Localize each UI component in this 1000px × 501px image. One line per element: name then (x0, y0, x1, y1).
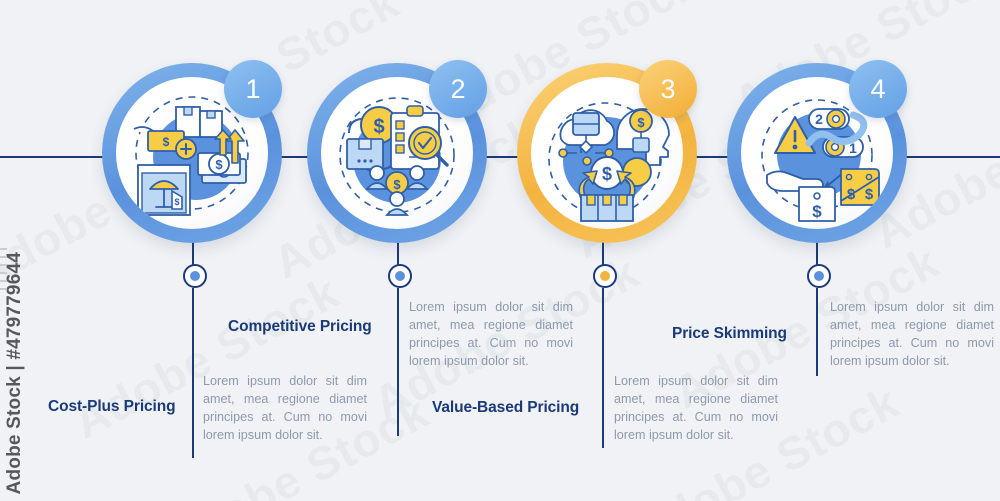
step-4-number: 4 (870, 76, 885, 103)
step-1-body: Lorem ipsum dolor sit dim amet, mea regi… (203, 372, 367, 445)
step-3-body: Lorem ipsum dolor sit dim amet, mea regi… (614, 372, 778, 445)
step-1-dot (183, 264, 207, 288)
step-4-body: Lorem ipsum dolor sit dim amet, mea regi… (830, 298, 994, 371)
step-4-badge: 4 (849, 60, 907, 118)
step-3-badge: 3 (639, 60, 697, 118)
step-2-title: Competitive Pricing (228, 318, 372, 336)
stem-1-lower (192, 288, 194, 458)
step-2-dot (388, 264, 412, 288)
step-4-title: Price Skimming (672, 325, 787, 343)
svg-text:2: 2 (815, 111, 823, 127)
step-3-dot (593, 264, 617, 288)
step-2-body: Lorem ipsum dolor sit dim amet, mea regi… (409, 298, 573, 371)
left-edge-ticks (0, 248, 8, 294)
step-1-title: Cost-Plus Pricing (48, 398, 176, 416)
stem-2-lower (397, 288, 399, 436)
step-1-number: 1 (245, 76, 260, 103)
svg-text:$: $ (602, 164, 612, 184)
stem-3-lower (602, 288, 604, 448)
infographic-canvas: Adobe Stock Adobe Stock Adobe Stock Adob… (0, 0, 1000, 501)
svg-text:$: $ (215, 157, 223, 172)
svg-text:$: $ (865, 186, 874, 203)
step-3-title: Value-Based Pricing (432, 399, 579, 417)
step-3-number: 3 (660, 76, 675, 103)
step-2-number: 2 (450, 76, 465, 103)
stem-4-lower (816, 288, 818, 376)
svg-text:$: $ (373, 116, 384, 138)
svg-text:$: $ (163, 135, 170, 149)
step-4-dot (807, 264, 831, 288)
svg-text:$: $ (812, 202, 822, 221)
step-2-badge: 2 (429, 60, 487, 118)
svg-text:$: $ (393, 177, 401, 192)
svg-text:$: $ (637, 115, 645, 130)
svg-text:$: $ (174, 197, 179, 207)
step-1-badge: 1 (224, 60, 282, 118)
